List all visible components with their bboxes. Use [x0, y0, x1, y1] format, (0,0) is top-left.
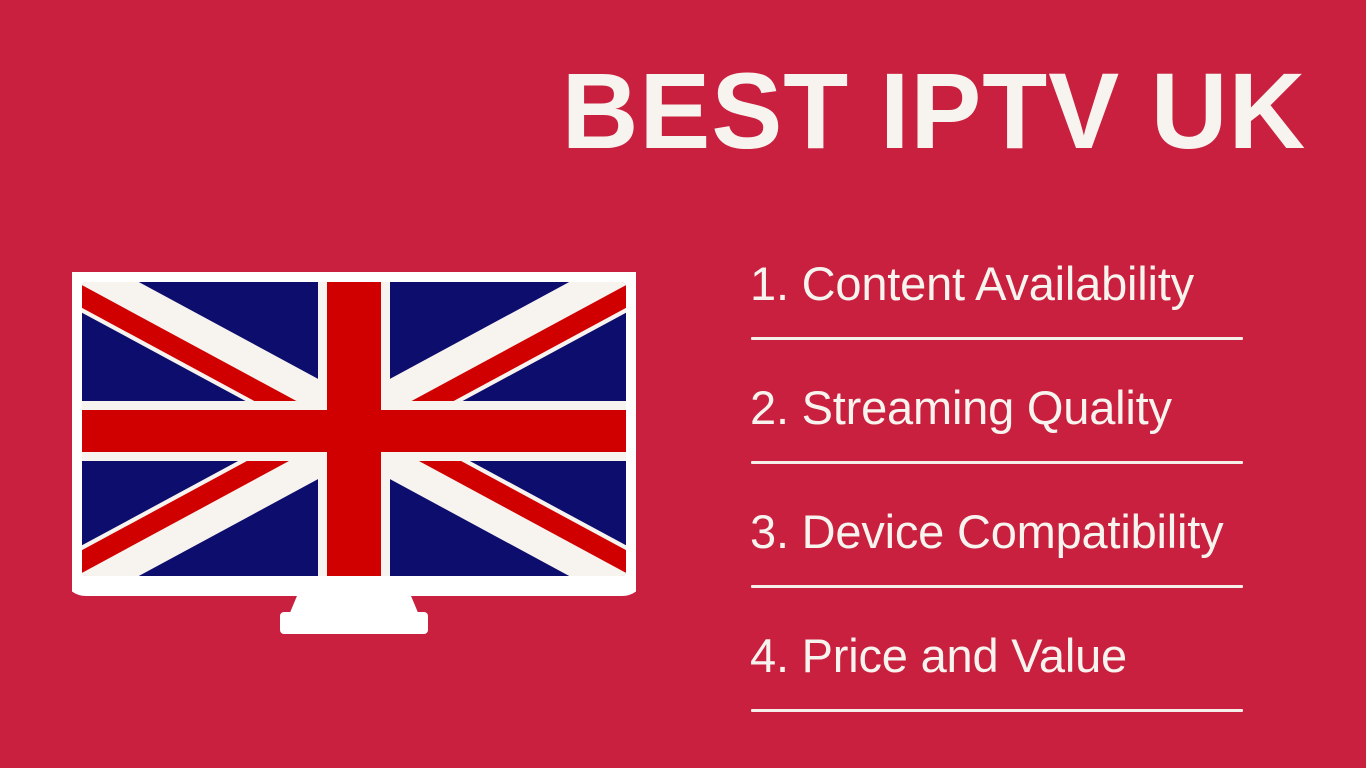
feature-label-streaming-quality: 2. Streaming Quality: [750, 379, 1172, 437]
union-jack-flag: [72, 274, 636, 584]
feature-label-content-availability: 1. Content Availability: [750, 255, 1194, 313]
feature-label-price-and-value: 4. Price and Value: [750, 627, 1127, 685]
page-title: BEST IPTV UK: [550, 55, 1318, 167]
feature-divider: [751, 461, 1243, 464]
feature-label-device-compatibility: 3. Device Compatibility: [750, 503, 1223, 561]
list-item[interactable]: 2. Streaming Quality: [750, 379, 1244, 503]
uk-flag-television-graphic: [72, 272, 636, 634]
feature-list: 1. Content Availability 2. Streaming Qua…: [750, 255, 1244, 751]
feature-divider: [751, 585, 1243, 588]
feature-divider: [751, 337, 1243, 340]
slide-canvas: BEST IPTV UK: [0, 0, 1366, 768]
list-item[interactable]: 4. Price and Value: [750, 627, 1244, 751]
list-item[interactable]: 1. Content Availability: [750, 255, 1244, 379]
feature-divider: [751, 709, 1243, 712]
list-item[interactable]: 3. Device Compatibility: [750, 503, 1244, 627]
